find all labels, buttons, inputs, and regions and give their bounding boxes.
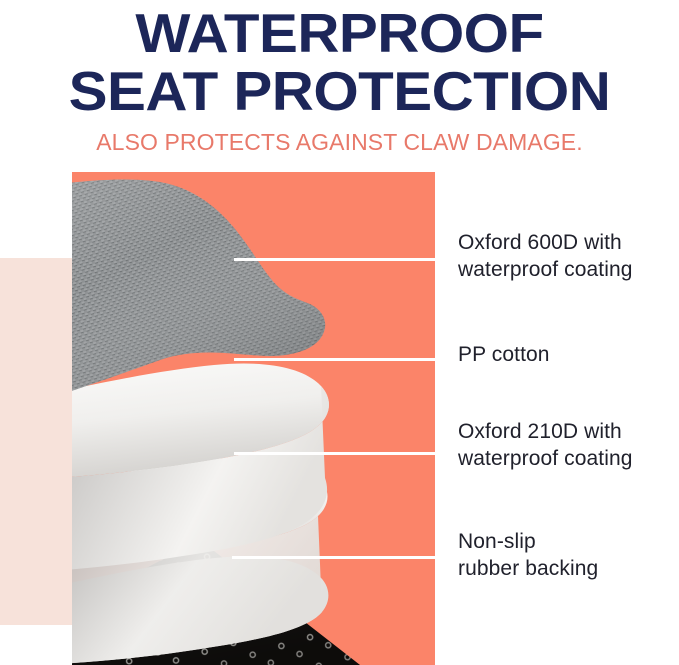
leader-line-oxford-600d (234, 258, 435, 261)
layer-label-oxford-600d: Oxford 600D with waterproof coating (458, 229, 633, 283)
layer-label-oxford-210d: Oxford 210D with waterproof coating (458, 418, 633, 472)
layer-label-oxford-600d-line2: waterproof coating (458, 256, 633, 283)
layer-stack-illustration (0, 160, 440, 665)
layer-label-rubber-backing-line2: rubber backing (458, 555, 598, 582)
subheadline: ALSO PROTECTS AGAINST CLAW DAMAGE. (0, 128, 679, 156)
leader-line-rubber-backing (232, 556, 435, 559)
headline-line-2: SEAT PROTECTION (0, 62, 679, 120)
leader-line-pp-cotton (234, 358, 435, 361)
layer-label-oxford-600d-line1: Oxford 600D with (458, 229, 633, 256)
product-infographic: WATERPROOF SEAT PROTECTION ALSO PROTECTS… (0, 0, 679, 665)
headline-line-1: WATERPROOF (0, 4, 679, 62)
layer-label-pp-cotton-line1: PP cotton (458, 341, 550, 368)
layer-label-rubber-backing: Non-slip rubber backing (458, 528, 598, 582)
layer-label-oxford-210d-line2: waterproof coating (458, 445, 633, 472)
layer-label-pp-cotton: PP cotton (458, 341, 550, 368)
headline-block: WATERPROOF SEAT PROTECTION ALSO PROTECTS… (0, 0, 679, 156)
leader-line-oxford-210d (234, 452, 435, 455)
layer-label-rubber-backing-line1: Non-slip (458, 528, 598, 555)
layer-label-oxford-210d-line1: Oxford 210D with (458, 418, 633, 445)
